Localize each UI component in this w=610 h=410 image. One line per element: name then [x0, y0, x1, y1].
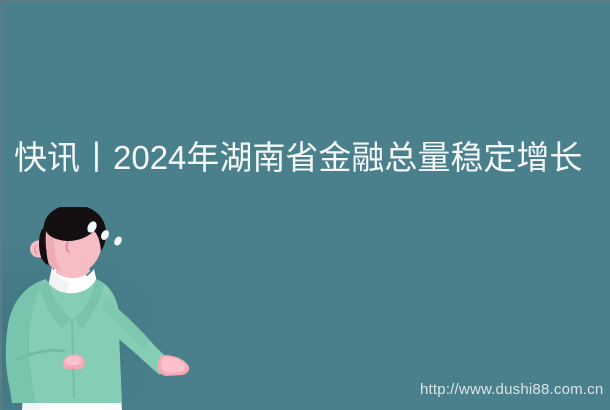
news-banner-card: 快讯丨2024年湖南省金融总量稳定增长 http://www.dushi88.c… [0, 0, 610, 410]
site-url-watermark: http://www.dushi88.com.cn [420, 381, 603, 399]
person-pointing-illustration [2, 207, 212, 410]
hand-highlight-shape [161, 357, 186, 373]
sparkle-dot-3 [113, 235, 124, 247]
headline-text: 快讯丨2024年湖南省金融总量稳定增长 [14, 136, 600, 180]
